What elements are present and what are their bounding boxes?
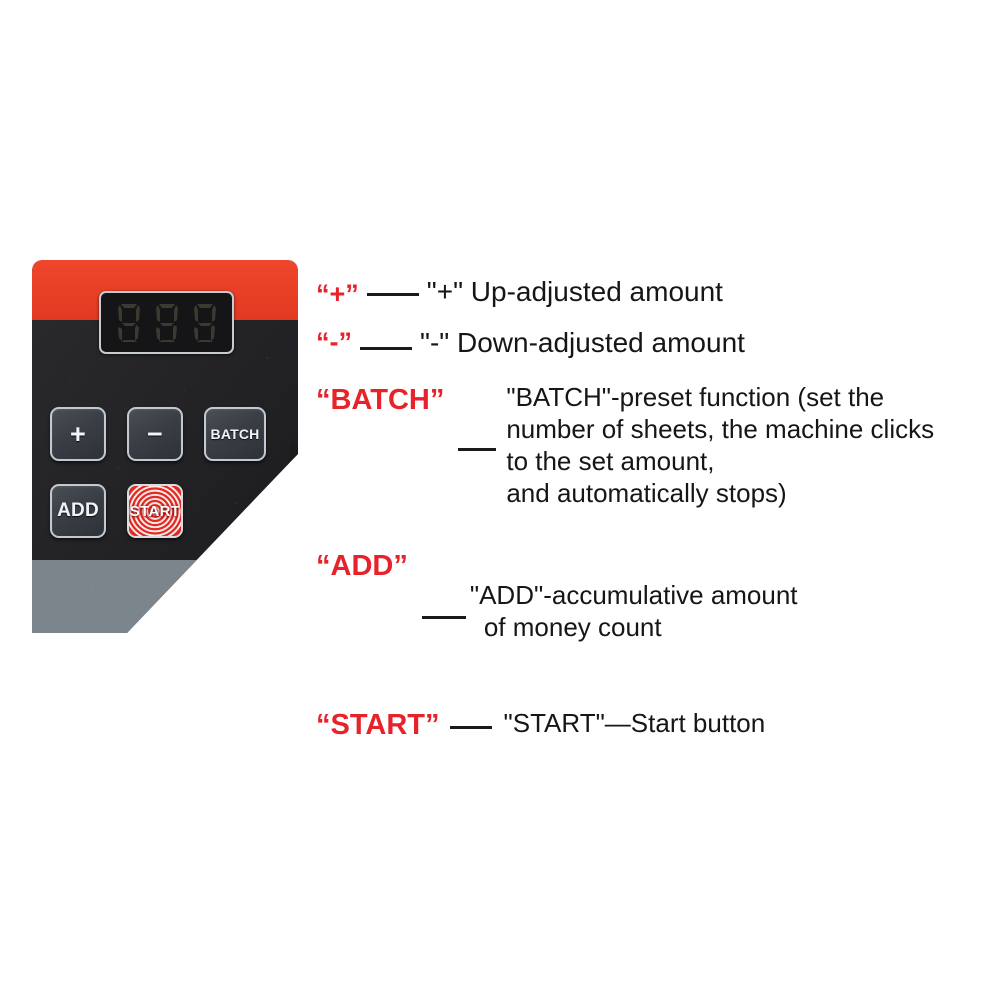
seven-segment-digit [152, 302, 182, 344]
legend-description-add: "ADD"-accumulative amount of money count [470, 547, 798, 675]
minus-button[interactable]: − [127, 407, 183, 461]
legend-separator-dash [422, 616, 466, 619]
seven-segment-digit [190, 302, 220, 344]
legend-separator-dash [458, 448, 496, 451]
legend-description-add-line2: of money count [470, 611, 798, 643]
plus-button[interactable]: + [50, 407, 106, 461]
legend-separator-dash [367, 293, 419, 296]
seven-segment-digit [114, 302, 144, 344]
legend-term-batch: “BATCH” [316, 381, 444, 415]
start-button[interactable]: START [127, 484, 183, 538]
legend-description-add-line1: "ADD"-accumulative amount [470, 580, 798, 610]
legend-row-start: “START” "START"—Start button [316, 707, 1000, 740]
legend-separator-dash [450, 726, 492, 729]
legend-row-minus: “-” "-" Down-adjusted amount [316, 327, 1000, 359]
legend-description-start: "START"—Start button [504, 707, 766, 739]
legend-row-add: “ADD” "ADD"-accumulative amount of money… [316, 547, 1000, 675]
legend-separator-dash [360, 347, 412, 350]
legend-description-minus: "-" Down-adjusted amount [420, 327, 745, 359]
control-panel-illustration: + − BATCH ADD START [22, 258, 307, 638]
legend-list: “+” "+" Up-adjusted amount “-” "-" Down-… [316, 276, 1000, 740]
batch-button[interactable]: BATCH [204, 407, 266, 461]
add-button[interactable]: ADD [50, 484, 106, 538]
led-display [99, 291, 234, 354]
legend-description-batch: "BATCH"-preset function (set the number … [506, 381, 934, 509]
legend-term-start: “START” [316, 707, 440, 740]
screenshot-root: + − BATCH ADD START [0, 0, 1000, 1000]
legend-row-plus: “+” "+" Up-adjusted amount [316, 276, 1000, 308]
start-button-label: START [130, 503, 180, 520]
legend-term-add: “ADD” [316, 547, 408, 581]
legend-term-plus: “+” [316, 276, 359, 308]
legend-description-plus: "+" Up-adjusted amount [427, 276, 723, 308]
legend-row-batch: “BATCH” "BATCH"-preset function (set the… [316, 381, 1000, 509]
legend-term-minus: “-” [316, 327, 352, 356]
